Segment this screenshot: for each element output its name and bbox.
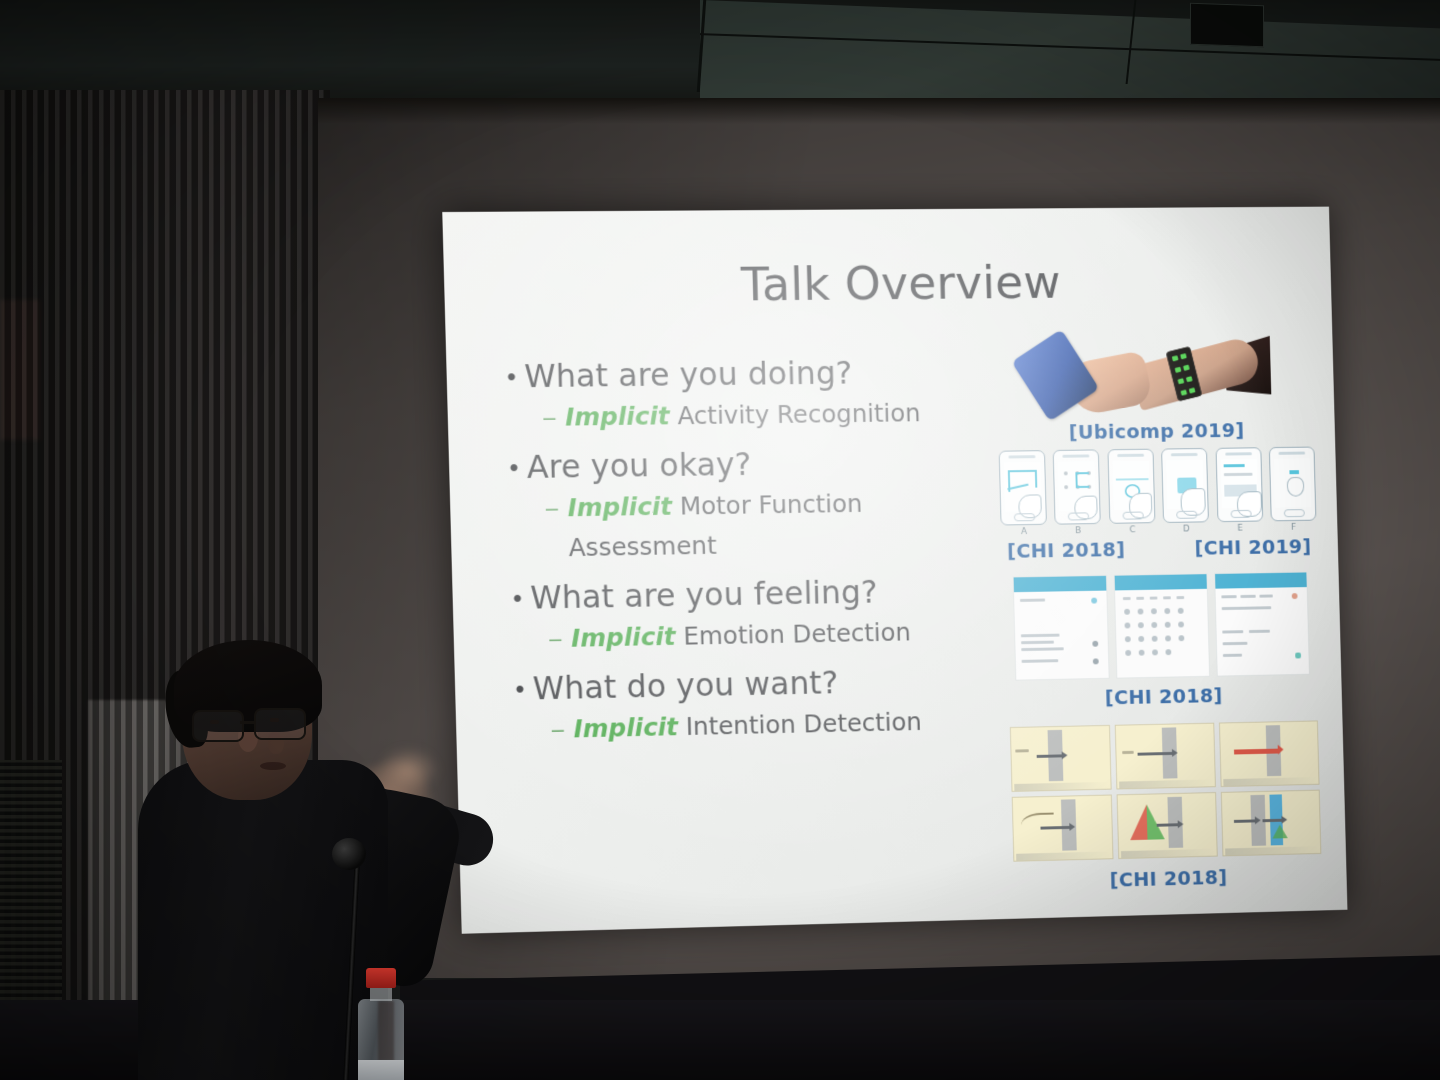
projected-slide: Talk Overview • What are you doing? – Im… [442,207,1347,934]
diagram-cell [1012,794,1114,861]
app-screenshot [1114,573,1210,679]
sub-bullet-item: – Implicit Intention Detection [551,702,1006,749]
microphone-icon [332,838,366,870]
bullet-question: What are you doing? [524,351,853,398]
diagram-cell [1115,723,1216,790]
gesturing-hand-motion-blur [378,748,438,792]
phone-sketch: F [1269,447,1317,533]
phone-sketch: B [1053,449,1101,536]
mouth [260,762,286,770]
presenter [120,640,480,1080]
sub-bullet-marker: – [543,399,566,437]
bullet-question: What do you want? [532,661,839,711]
bullet-marker: • [504,576,531,620]
diagram-cell [1117,792,1218,859]
lecture-hall-photo: Talk Overview • What are you doing? – Im… [0,0,1440,1080]
phone-sketch: E [1215,447,1263,534]
slide-title: Talk Overview [740,254,1244,312]
sub-bullet-marker: – [549,620,572,658]
sub-bullet-marker: – [551,711,574,749]
phone-sketch-label: C [1109,525,1155,536]
bullet-question: What are you feeling? [530,570,878,620]
app-header-bar [1115,574,1207,590]
sub-bullet-item: – Implicit Activity Recognition [543,394,998,437]
sub-bullet-text: Implicit Activity Recognition [565,395,921,437]
bullet-marker: • [498,354,525,398]
sub-bullet-text: Implicit Intention Detection [573,703,922,748]
bottle-cap [366,968,396,988]
sub-bullet-rest: Intention Detection [678,707,923,741]
sub-bullet-rest: Motor Function [672,489,863,521]
phone-sketch-label: A [1001,527,1048,538]
app-header-bar [1215,572,1307,588]
eyeglasses-icon [192,710,314,740]
app-screenshot [1013,575,1110,681]
phone-sketch-label: B [1055,526,1101,537]
figure-caption-chi2018-phones: [CHI 2018] [1007,537,1126,562]
phone-strip-captions: [CHI 2018] [CHI 2019] [1001,534,1317,563]
slide-bullet-list: • What are you doing? – Implicit Activit… [498,349,1007,757]
sub-bullet-rest: Emotion Detection [675,618,911,651]
figure-caption-chi2018-apps: [CHI 2018] [1005,681,1321,711]
implicit-emphasis: Implicit [565,401,670,431]
implicit-emphasis: Implicit [573,712,678,743]
bottle-reflection [378,1001,394,1061]
sub-bullet-marker: – [545,489,568,527]
hand-phone-photo [1019,333,1314,420]
figure-caption-chi2019-phones: [CHI 2019] [1194,534,1311,559]
bullet-item: • Are you okay? [500,439,999,489]
phone-sketch: D [1161,448,1209,535]
bottle-label [358,1060,404,1080]
sub-bullet-text: Implicit Emotion Detection [571,614,912,658]
phone-sketch: C [1107,449,1155,536]
phone-sketch: A [999,450,1048,537]
app-screenshot [1214,571,1310,676]
diagram-grid [1006,720,1325,861]
sub-bullet-continuation: Assessment [568,523,1001,568]
phone-sketch-label: F [1271,523,1317,533]
phone-sketch-strip: A [999,447,1317,538]
phone-sketch-label: D [1163,524,1209,535]
water-bottle [356,968,406,1080]
app-screenshot-row [1002,571,1320,681]
diagram-cell [1010,725,1112,792]
sub-bullet-item: – Implicit Emotion Detection [549,612,1004,658]
diagram-cell [1219,720,1320,787]
bullet-question: Are you okay? [526,442,752,489]
app-header-bar [1014,576,1107,592]
bullet-marker: • [506,666,533,710]
implicit-emphasis: Implicit [571,622,676,653]
screen-top-shadow [318,98,1440,124]
bullet-marker: • [500,445,527,489]
bullet-item: • What are you feeling? [504,568,1003,620]
bottle-neck [370,987,392,1001]
bullet-item: • What are you doing? [498,349,997,398]
phone-sketch-label: E [1217,523,1263,533]
sub-bullet-item: – Implicit Motor Function [545,483,1000,527]
figure-caption-ubicomp: [Ubicomp 2019] [998,417,1314,445]
slide-figure-column: [Ubicomp 2019] A [996,333,1326,894]
implicit-emphasis: Implicit [567,492,672,522]
sub-bullet-text: Implicit Motor Function [567,485,863,527]
diagram-cell [1221,790,1322,857]
ceiling-vent [1190,3,1264,48]
sub-bullet-rest: Activity Recognition [669,399,921,431]
